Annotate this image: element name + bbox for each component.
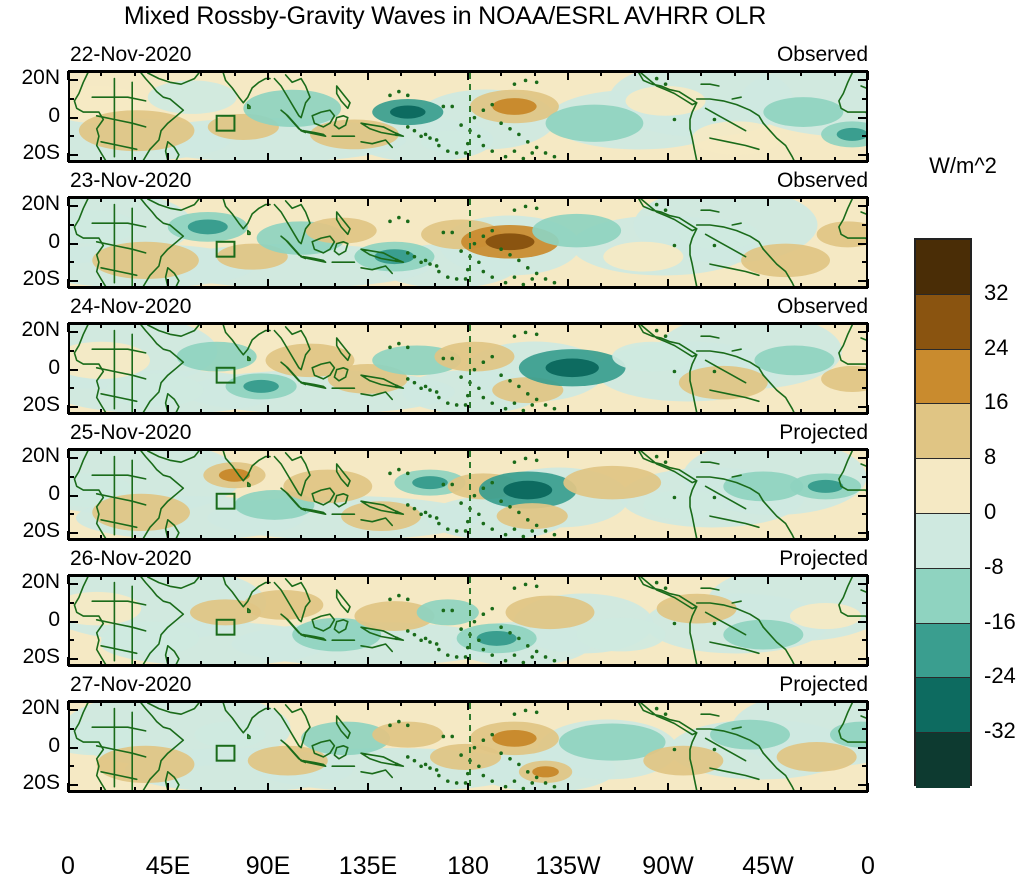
x-axis-tick: [234, 787, 236, 792]
y-axis-tick: [858, 406, 867, 408]
x-axis-tick: [600, 323, 602, 328]
colorbar-tick-label: 0: [984, 499, 996, 525]
x-axis-tick: [134, 449, 136, 454]
y-axis-tick: [862, 98, 867, 100]
x-axis-tick: [200, 535, 202, 540]
x-axis-tick: [567, 531, 569, 540]
y-axis-label: 20S: [2, 645, 60, 669]
x-axis-tick: [367, 531, 369, 540]
x-axis-tick: [400, 449, 402, 454]
x-axis-tick: [700, 323, 702, 328]
x-axis-tick: [100, 701, 102, 706]
y-axis-tick: [69, 406, 78, 408]
x-axis-tick: [567, 449, 569, 458]
x-axis-tick: [534, 157, 536, 162]
y-axis-tick: [858, 709, 867, 711]
x-axis-tick: [134, 197, 136, 202]
x-axis-tick: [400, 323, 402, 328]
x-axis-tick: [567, 153, 569, 162]
x-axis-tick: [634, 197, 636, 202]
y-axis-tick: [69, 583, 78, 585]
x-axis-tick: [734, 535, 736, 540]
colorbar-tick-label: 32: [984, 280, 1008, 306]
y-axis-label: 0: [2, 356, 60, 380]
x-axis-tick: [267, 71, 269, 80]
x-axis-tick: [200, 701, 202, 706]
x-axis-tick: [367, 449, 369, 458]
y-axis-label: 20S: [2, 771, 60, 795]
x-axis-tick-label: 90W: [642, 852, 693, 881]
y-axis-tick: [69, 621, 78, 623]
x-axis-tick: [767, 783, 769, 792]
y-axis-label: 20S: [2, 141, 60, 165]
x-axis-tick: [200, 197, 202, 202]
y-axis-tick: [862, 224, 867, 226]
y-axis-tick: [858, 784, 867, 786]
y-axis-tick: [69, 457, 78, 459]
x-axis-tick: [834, 701, 836, 706]
panel-date-label: 26-Nov-2020: [70, 547, 191, 571]
x-axis-tick: [734, 701, 736, 706]
x-axis-tick: [834, 71, 836, 76]
x-axis-tick: [834, 157, 836, 162]
x-axis-tick: [734, 449, 736, 454]
x-axis-tick: [434, 283, 436, 288]
x-axis-tick: [667, 575, 669, 584]
x-axis-tick: [734, 787, 736, 792]
x-axis-tick: [700, 661, 702, 666]
x-axis-tick: [600, 661, 602, 666]
x-axis-tick: [700, 701, 702, 706]
x-axis-tick: [534, 71, 536, 76]
y-axis-label: 20N: [2, 66, 60, 90]
y-axis-label: 0: [2, 734, 60, 758]
y-axis-label: 20S: [2, 267, 60, 291]
x-axis-tick: [167, 279, 169, 288]
x-axis-tick: [100, 409, 102, 414]
x-axis-tick: [700, 283, 702, 288]
x-axis-tick: [467, 657, 469, 666]
x-axis-tick: [400, 575, 402, 580]
x-axis-tick: [400, 283, 402, 288]
x-axis-tick: [167, 657, 169, 666]
x-axis-tick: [667, 531, 669, 540]
x-axis-tick: [800, 283, 802, 288]
y-axis-tick: [858, 243, 867, 245]
x-axis-tick: [700, 575, 702, 580]
x-axis-tick: [467, 279, 469, 288]
x-axis-tick: [167, 783, 169, 792]
x-axis-tick: [567, 701, 569, 710]
colorbar-tick-label: -8: [984, 554, 1004, 580]
x-axis-tick: [167, 405, 169, 414]
x-axis-tick: [600, 787, 602, 792]
x-axis-tick: [600, 575, 602, 580]
y-axis-tick: [858, 457, 867, 459]
y-axis-tick: [862, 765, 867, 767]
x-axis-tick: [800, 157, 802, 162]
colorbar-band: [916, 459, 970, 514]
x-axis-tick: [367, 71, 369, 80]
x-axis-tick: [567, 323, 569, 332]
x-axis-tick: [367, 657, 369, 666]
x-axis-tick: [734, 575, 736, 580]
colorbar-tick-label: 8: [984, 444, 996, 470]
x-axis-tick: [367, 197, 369, 206]
x-axis-tick: [400, 409, 402, 414]
x-axis-tick: [667, 405, 669, 414]
x-axis-tick: [300, 283, 302, 288]
x-axis-tick: [734, 71, 736, 76]
x-axis-tick: [500, 575, 502, 580]
x-axis-tick: [167, 71, 169, 80]
x-axis-tick: [200, 71, 202, 76]
x-axis-tick-label: 180: [447, 852, 489, 881]
x-axis-tick: [867, 701, 869, 710]
panel-date-label: 25-Nov-2020: [70, 421, 191, 445]
x-axis-tick: [834, 409, 836, 414]
panel-status-label: Projected: [779, 421, 868, 445]
x-axis-tick: [800, 661, 802, 666]
y-axis-tick: [862, 387, 867, 389]
x-axis-tick: [700, 71, 702, 76]
x-axis-tick: [300, 71, 302, 76]
y-axis-label: 0: [2, 482, 60, 506]
x-axis-tick: [600, 701, 602, 706]
x-axis-tick: [334, 71, 336, 76]
y-axis-tick: [69, 243, 78, 245]
x-axis-tick: [600, 409, 602, 414]
y-axis-tick: [858, 79, 867, 81]
x-axis-tick: [834, 661, 836, 666]
x-axis-tick: [600, 71, 602, 76]
x-axis-tick: [467, 323, 469, 332]
x-axis-tick: [434, 661, 436, 666]
x-axis-tick: [100, 787, 102, 792]
x-axis-tick: [134, 71, 136, 76]
x-axis-tick: [267, 783, 269, 792]
y-axis-tick: [69, 602, 74, 604]
y-axis-tick: [858, 621, 867, 623]
y-axis-tick: [858, 205, 867, 207]
y-axis-tick: [69, 280, 78, 282]
x-axis-tick: [400, 71, 402, 76]
y-axis-tick: [69, 350, 74, 352]
x-axis-tick: [867, 153, 869, 162]
x-axis-tick: [734, 661, 736, 666]
x-axis-tick: [500, 283, 502, 288]
x-axis-tick: [634, 71, 636, 76]
x-axis-tick: [434, 197, 436, 202]
x-axis-tick: [500, 157, 502, 162]
x-axis-tick: [100, 535, 102, 540]
y-axis-tick: [858, 658, 867, 660]
y-axis-tick: [858, 331, 867, 333]
x-axis-tick: [634, 535, 636, 540]
x-axis-tick: [334, 661, 336, 666]
x-axis-tick: [167, 575, 169, 584]
y-axis-tick: [69, 709, 78, 711]
x-axis-tick: [667, 71, 669, 80]
x-axis-tick: [834, 787, 836, 792]
x-axis-tick: [534, 535, 536, 540]
colorbar-tick-label: 24: [984, 335, 1008, 361]
y-axis-tick: [858, 117, 867, 119]
colorbar: [914, 238, 972, 786]
y-axis-tick: [69, 639, 74, 641]
x-axis-tick: [267, 197, 269, 206]
x-axis-tick: [634, 323, 636, 328]
y-axis-tick: [858, 495, 867, 497]
x-axis-tick: [867, 197, 869, 206]
x-axis-tick: [400, 701, 402, 706]
y-axis-tick: [858, 747, 867, 749]
x-axis-tick: [334, 701, 336, 706]
x-axis-tick: [200, 787, 202, 792]
x-axis-tick: [367, 783, 369, 792]
x-axis-tick: [400, 787, 402, 792]
x-axis-tick: [234, 449, 236, 454]
x-axis-labels: 045E90E135E180135W90W45W0: [0, 852, 890, 888]
x-axis-tick: [434, 535, 436, 540]
x-axis-tick: [267, 701, 269, 710]
map-area: [68, 196, 868, 289]
x-axis-tick: [100, 323, 102, 328]
x-axis-tick: [100, 283, 102, 288]
colorbar-band: [916, 240, 970, 295]
x-axis-tick: [767, 701, 769, 710]
panel-status-label: Projected: [779, 547, 868, 571]
colorbar-band: [916, 514, 970, 569]
x-axis-tick: [300, 323, 302, 328]
x-axis-tick: [834, 197, 836, 202]
x-axis-tick: [200, 409, 202, 414]
x-axis-tick: [467, 783, 469, 792]
x-axis-tick: [534, 701, 536, 706]
x-axis-tick: [300, 157, 302, 162]
x-axis-tick: [467, 449, 469, 458]
x-axis-tick: [267, 279, 269, 288]
x-axis-tick: [234, 701, 236, 706]
x-axis-tick: [400, 661, 402, 666]
x-axis-tick: [334, 157, 336, 162]
x-axis-tick: [267, 449, 269, 458]
x-axis-tick-label: 135E: [339, 852, 397, 881]
x-axis-tick: [834, 323, 836, 328]
panel-date-label: 23-Nov-2020: [70, 169, 191, 193]
x-axis-tick: [100, 157, 102, 162]
x-axis-tick: [634, 409, 636, 414]
y-axis-tick: [69, 331, 78, 333]
x-axis-tick: [267, 657, 269, 666]
y-axis-label: 20N: [2, 570, 60, 594]
x-axis-tick: [334, 575, 336, 580]
x-axis-tick: [467, 197, 469, 206]
x-axis-tick: [500, 197, 502, 202]
y-axis-tick: [862, 135, 867, 137]
x-axis-tick-label: 135W: [535, 852, 600, 881]
x-axis-tick: [100, 661, 102, 666]
x-axis-tick: [834, 535, 836, 540]
y-axis-label: 20N: [2, 192, 60, 216]
x-axis-tick: [867, 323, 869, 332]
map-area: [68, 448, 868, 541]
x-axis-tick: [367, 323, 369, 332]
x-axis-tick: [700, 409, 702, 414]
colorbar-band: [916, 350, 970, 405]
x-axis-tick: [467, 701, 469, 710]
x-axis-tick: [334, 787, 336, 792]
x-axis-tick: [234, 157, 236, 162]
colorbar-band: [916, 569, 970, 624]
y-axis-tick: [858, 280, 867, 282]
x-axis-tick: [134, 787, 136, 792]
x-axis-tick: [434, 157, 436, 162]
y-axis-tick: [862, 513, 867, 515]
y-axis-tick: [69, 154, 78, 156]
y-axis-tick: [69, 658, 78, 660]
x-axis-tick: [867, 279, 869, 288]
panel-status-label: Observed: [777, 43, 868, 67]
x-axis-tick: [500, 661, 502, 666]
x-axis-tick: [234, 535, 236, 540]
colorbar-tick-label: -32: [984, 718, 1016, 744]
x-axis-tick: [434, 787, 436, 792]
x-axis-tick: [600, 535, 602, 540]
x-axis-tick: [100, 71, 102, 76]
y-axis-tick: [69, 387, 74, 389]
y-axis-tick: [69, 205, 78, 207]
y-axis-label: 20N: [2, 696, 60, 720]
x-axis-tick: [334, 409, 336, 414]
x-axis-tick: [567, 279, 569, 288]
y-axis-tick: [69, 476, 74, 478]
x-axis-tick: [534, 409, 536, 414]
x-axis-tick: [500, 449, 502, 454]
x-axis-tick: [634, 661, 636, 666]
x-axis-tick: [834, 449, 836, 454]
x-axis-tick: [767, 71, 769, 80]
colorbar-tick-labels: 32241680-8-16-24-32: [984, 238, 1021, 786]
map-area: [68, 70, 868, 163]
x-axis-tick: [834, 283, 836, 288]
x-axis-tick: [134, 575, 136, 580]
x-axis-tick: [634, 157, 636, 162]
x-axis-tick: [200, 323, 202, 328]
x-axis-tick: [334, 197, 336, 202]
x-axis-tick: [867, 531, 869, 540]
x-axis-tick: [167, 531, 169, 540]
x-axis-tick: [300, 409, 302, 414]
colorbar-band: [916, 624, 970, 679]
x-axis-tick: [134, 283, 136, 288]
map-area: [68, 700, 868, 793]
y-axis-tick: [862, 728, 867, 730]
x-axis-tick: [734, 323, 736, 328]
x-axis-tick: [534, 787, 536, 792]
map-area: [68, 574, 868, 667]
x-axis-tick: [634, 701, 636, 706]
x-axis-tick: [234, 71, 236, 76]
x-axis-tick: [467, 405, 469, 414]
x-axis-tick: [467, 531, 469, 540]
x-axis-tick: [800, 449, 802, 454]
x-axis-tick: [867, 449, 869, 458]
colorbar-band: [916, 678, 970, 733]
x-axis-tick: [267, 575, 269, 584]
colorbar-tick-label: -24: [984, 663, 1016, 689]
x-axis-tick: [567, 657, 569, 666]
x-axis-tick: [134, 535, 136, 540]
page-title: Mixed Rossby-Gravity Waves in NOAA/ESRL …: [0, 2, 890, 31]
y-axis-tick: [69, 728, 74, 730]
x-axis-tick: [234, 323, 236, 328]
x-axis-tick: [867, 783, 869, 792]
x-axis-tick: [434, 449, 436, 454]
x-axis-tick: [400, 197, 402, 202]
y-axis-tick: [69, 117, 78, 119]
x-axis-tick: [300, 701, 302, 706]
x-axis-tick: [667, 449, 669, 458]
x-axis-tick: [800, 535, 802, 540]
colorbar-band: [916, 733, 970, 788]
x-axis-tick: [534, 449, 536, 454]
y-axis-tick: [862, 639, 867, 641]
x-axis-tick: [134, 701, 136, 706]
x-axis-tick: [100, 575, 102, 580]
x-axis-tick: [534, 197, 536, 202]
x-axis-tick: [767, 197, 769, 206]
x-axis-tick: [300, 197, 302, 202]
x-axis-tick: [600, 157, 602, 162]
y-axis-tick: [858, 154, 867, 156]
x-axis-tick: [700, 787, 702, 792]
colorbar-tick-label: -16: [984, 609, 1016, 635]
x-axis-tick: [800, 575, 802, 580]
x-axis-tick: [800, 701, 802, 706]
y-axis-tick: [69, 369, 78, 371]
x-axis-tick: [767, 575, 769, 584]
x-axis-tick: [767, 531, 769, 540]
x-axis-tick: [500, 409, 502, 414]
colorbar-tick-label: 16: [984, 389, 1008, 415]
x-axis-tick: [867, 575, 869, 584]
x-axis-tick: [400, 157, 402, 162]
x-axis-tick: [367, 575, 369, 584]
y-axis-tick: [862, 350, 867, 352]
x-axis-tick: [100, 197, 102, 202]
y-axis-tick: [69, 79, 78, 81]
x-axis-tick: [767, 449, 769, 458]
x-axis-tick: [567, 575, 569, 584]
x-axis-tick: [567, 197, 569, 206]
x-axis-tick: [367, 405, 369, 414]
x-axis-tick: [134, 323, 136, 328]
y-axis-tick: [69, 532, 78, 534]
x-axis-tick: [700, 535, 702, 540]
x-axis-tick: [534, 323, 536, 328]
y-axis-tick: [862, 476, 867, 478]
x-axis-tick: [700, 157, 702, 162]
x-axis-tick: [867, 405, 869, 414]
x-axis-tick: [734, 157, 736, 162]
x-axis-tick: [800, 71, 802, 76]
panel-date-label: 27-Nov-2020: [70, 673, 191, 697]
x-axis-tick: [167, 323, 169, 332]
y-axis-tick: [69, 765, 74, 767]
x-axis-tick: [234, 283, 236, 288]
panel-status-label: Projected: [779, 673, 868, 697]
